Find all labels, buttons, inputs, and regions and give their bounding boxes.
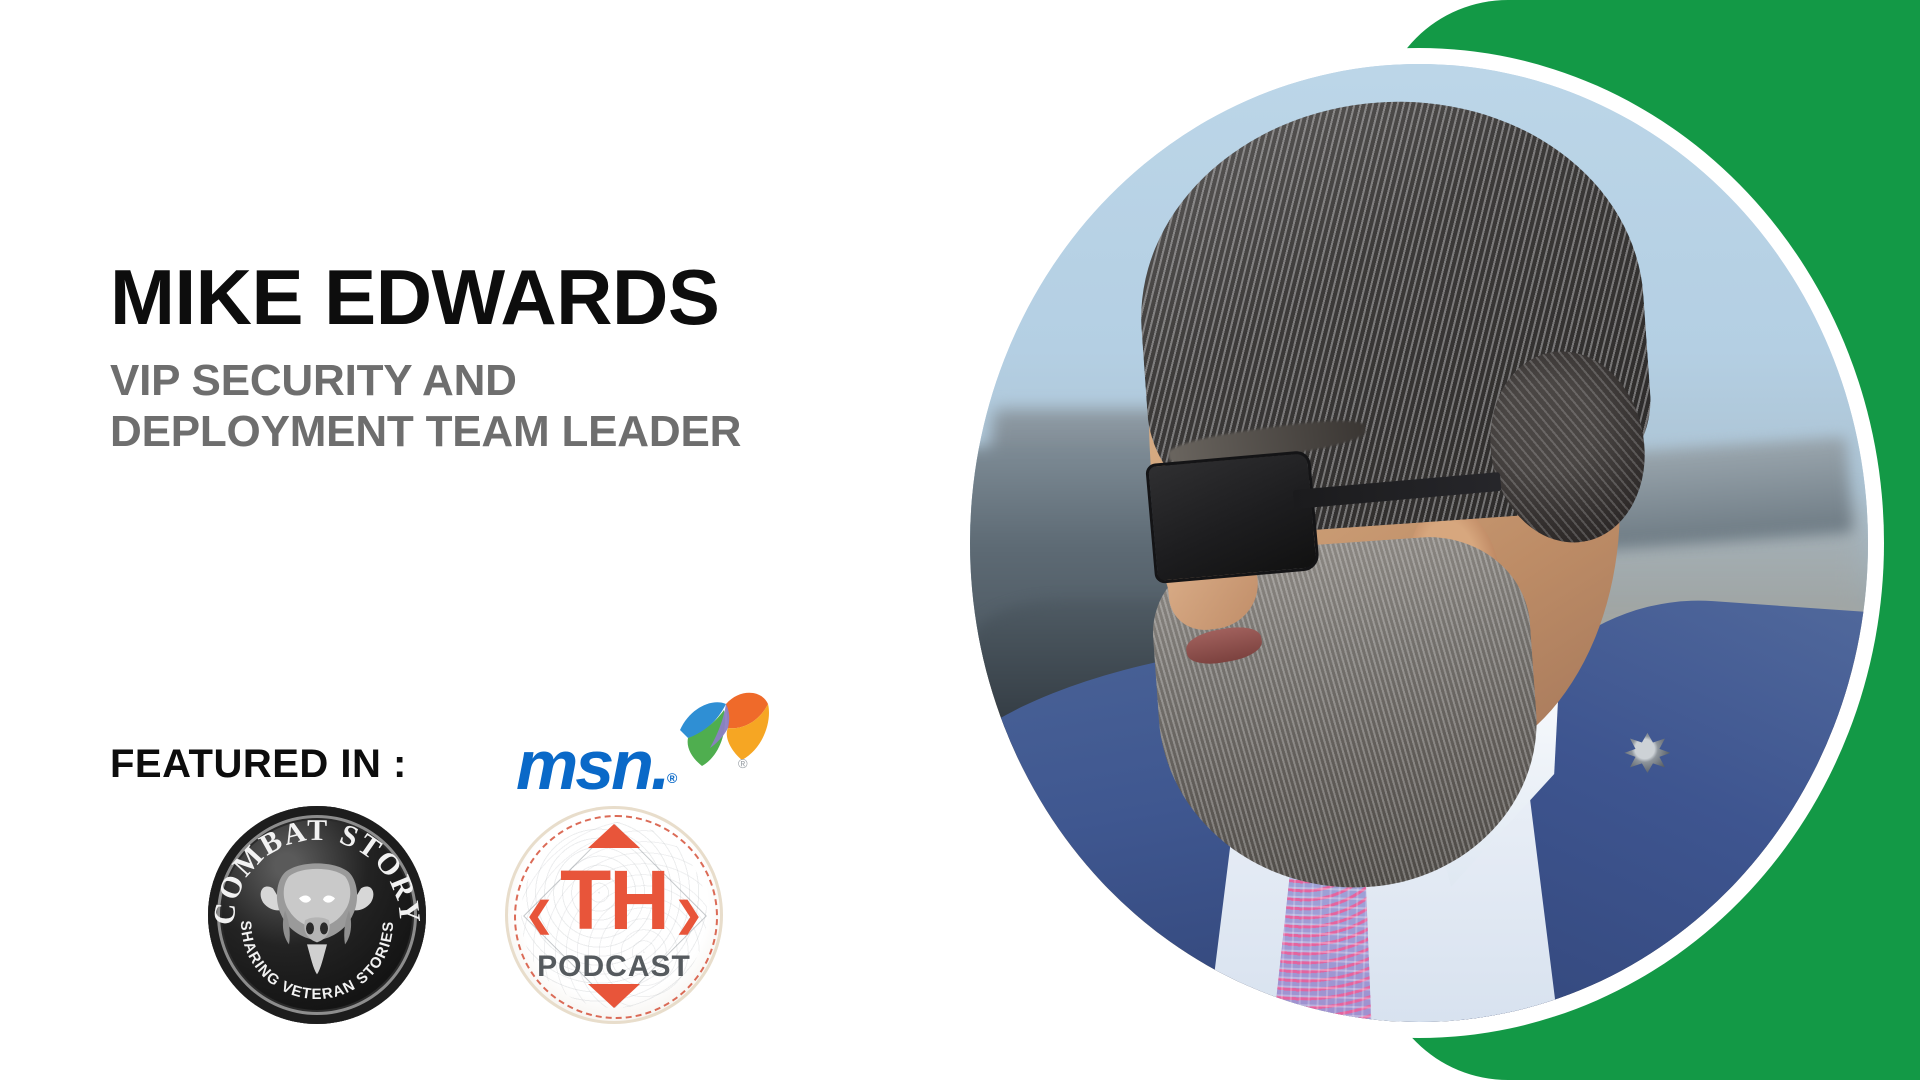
bison-head-icon <box>255 858 379 976</box>
th-podcast-chevron-down-icon <box>588 984 640 1008</box>
msn-wordmark: msn. <box>516 730 667 800</box>
th-podcast-subtext: PODCAST <box>505 952 723 982</box>
photo-sunglasses <box>1150 457 1509 577</box>
msn-butterfly-registered-mark: ® <box>738 756 748 771</box>
photo-sunglasses-temple-arm <box>1293 472 1502 509</box>
featured-in-label: FEATURED IN : <box>110 742 407 787</box>
person-role-line-2: DEPLOYMENT TEAM LEADER <box>110 406 741 457</box>
th-podcast-letters: TH <box>505 858 723 942</box>
msn-registered-mark: ® <box>667 770 677 786</box>
msn-butterfly-icon <box>676 686 772 772</box>
th-podcast-logo[interactable]: ❮ ❯ TH PODCAST <box>505 806 723 1024</box>
page-title: MIKE EDWARDS <box>110 258 719 336</box>
person-role-line-1: VIP SECURITY AND <box>110 355 741 406</box>
promo-card: MIKE EDWARDS VIP SECURITY AND DEPLOYMENT… <box>0 0 1920 1080</box>
msn-logo[interactable]: msn. ® ® <box>516 700 766 796</box>
portrait-container <box>954 48 1884 1038</box>
photo-sunglasses-lens <box>1145 450 1320 584</box>
combat-story-logo[interactable]: COMBAT STORY SHARING VETERAN STORIES <box>208 806 426 1024</box>
portrait-photo <box>970 64 1868 1022</box>
person-role: VIP SECURITY AND DEPLOYMENT TEAM LEADER <box>110 355 741 457</box>
th-podcast-chevron-up-icon <box>588 824 640 848</box>
